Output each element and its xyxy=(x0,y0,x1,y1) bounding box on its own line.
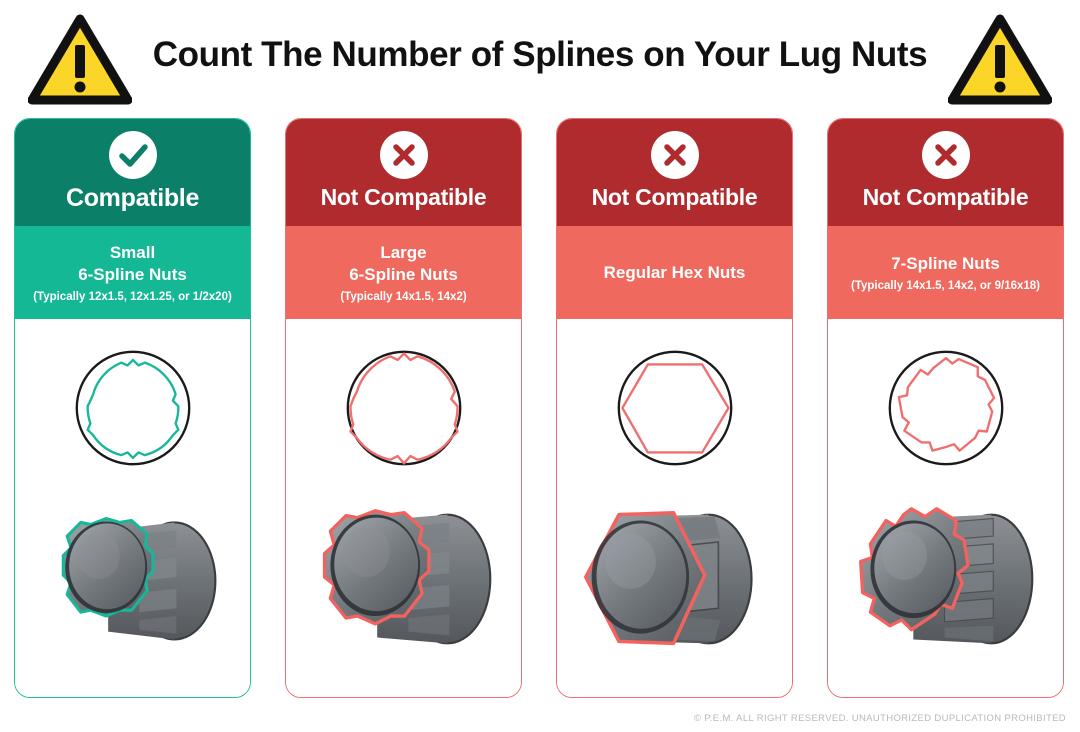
six-spline-small-nut-icon xyxy=(15,479,250,679)
six-spline-large-nut-icon xyxy=(286,479,521,679)
nut-name-line-1: 7-Spline Nuts xyxy=(891,253,1000,275)
seven-spline-outline-icon xyxy=(828,333,1063,483)
verdict-label: Compatible xyxy=(66,184,199,213)
comparison-card-small-6-spline[interactable]: Compatible Small 6-Spline Nuts (Typicall… xyxy=(14,118,251,698)
nut-name-line-2: 6-Spline Nuts xyxy=(349,264,458,286)
card-body xyxy=(557,319,792,697)
nut-name-line-2: 6-Spline Nuts xyxy=(78,264,187,286)
nut-thread-note: (Typically 14x1.5, 14x2) xyxy=(340,291,466,303)
seven-spline-nut-icon xyxy=(828,479,1063,679)
card-subtitle-band: Large 6-Spline Nuts (Typically 14x1.5, 1… xyxy=(286,226,521,319)
card-header-not-compatible: Not Compatible xyxy=(828,119,1063,226)
card-header-not-compatible: Not Compatible xyxy=(286,119,521,226)
nut-name-line-1: Small xyxy=(110,242,155,264)
cross-icon xyxy=(651,131,699,179)
card-subtitle-band: 7-Spline Nuts (Typically 14x1.5, 14x2, o… xyxy=(828,226,1063,319)
page-title: Count The Number of Splines on Your Lug … xyxy=(153,35,927,75)
card-subtitle-band: Small 6-Spline Nuts (Typically 12x1.5, 1… xyxy=(15,226,250,319)
verdict-label: Not Compatible xyxy=(592,184,758,211)
warning-triangle-icon xyxy=(948,14,1052,106)
six-spline-small-outline-icon xyxy=(15,333,250,483)
comparison-card-large-6-spline[interactable]: Not Compatible Large 6-Spline Nuts (Typi… xyxy=(285,118,522,698)
comparison-card-grid: Compatible Small 6-Spline Nuts (Typicall… xyxy=(14,118,1066,698)
card-body xyxy=(15,319,250,697)
nut-thread-note: (Typically 14x1.5, 14x2, or 9/16x18) xyxy=(851,280,1040,292)
header: Count The Number of Splines on Your Lug … xyxy=(0,0,1080,110)
verdict-label: Not Compatible xyxy=(863,184,1029,211)
six-spline-large-outline-icon xyxy=(286,333,521,483)
card-header-compatible: Compatible xyxy=(15,119,250,226)
copyright-notice: © P.E.M. ALL RIGHT RESERVED. UNAUTHORIZE… xyxy=(694,713,1066,724)
card-body xyxy=(828,319,1063,697)
cross-icon xyxy=(922,131,970,179)
nut-name-line-1: Large xyxy=(380,242,426,264)
hex-nut-icon xyxy=(557,479,792,679)
warning-triangle-icon xyxy=(28,14,132,106)
card-subtitle-band: Regular Hex Nuts xyxy=(557,226,792,319)
card-body xyxy=(286,319,521,697)
nut-thread-note: (Typically 12x1.5, 12x1.25, or 1/2x20) xyxy=(33,291,232,303)
infographic-page: Count The Number of Splines on Your Lug … xyxy=(0,0,1080,732)
card-header-not-compatible: Not Compatible xyxy=(557,119,792,226)
check-icon xyxy=(109,131,157,179)
nut-name-line-1: Regular Hex Nuts xyxy=(604,262,746,284)
comparison-card-7-spline[interactable]: Not Compatible 7-Spline Nuts (Typically … xyxy=(827,118,1064,698)
verdict-label: Not Compatible xyxy=(321,184,487,211)
hex-outline-icon xyxy=(557,333,792,483)
cross-icon xyxy=(380,131,428,179)
comparison-card-regular-hex[interactable]: Not Compatible Regular Hex Nuts xyxy=(556,118,793,698)
